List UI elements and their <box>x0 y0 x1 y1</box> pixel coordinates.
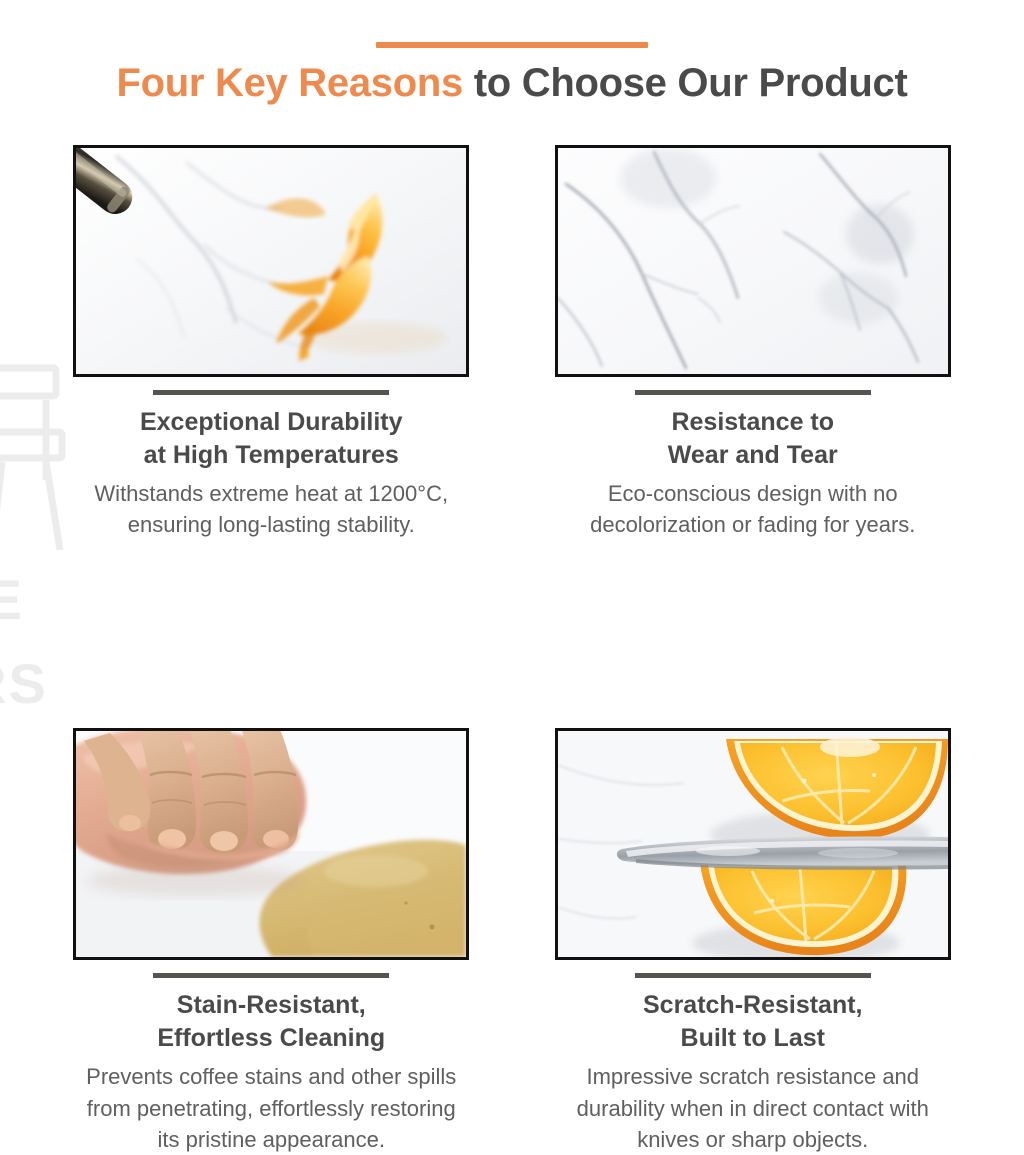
reason-image-2-frame <box>555 145 951 377</box>
card-divider-1 <box>153 390 389 395</box>
reason-body-4: Impressive scratch resistance and durabi… <box>555 1061 952 1155</box>
reason-image-2 <box>558 148 948 374</box>
reason-title-1: Exceptional Durability at High Temperatu… <box>73 406 470 472</box>
reason-card-4: Scratch-Resistant, Built to Last Impress… <box>555 728 952 1155</box>
reason-image-3 <box>76 731 466 957</box>
header: Four Key Reasons to Choose Our Product <box>0 0 1024 104</box>
reason-body-3: Prevents coffee stains and other spills … <box>73 1061 470 1155</box>
reason-title-3: Stain-Resistant, Effortless Cleaning <box>73 989 470 1055</box>
card-divider-3 <box>153 973 389 978</box>
reason-title-4: Scratch-Resistant, Built to Last <box>555 989 952 1055</box>
card-divider-2 <box>635 390 871 395</box>
reason-card-3: Stain-Resistant, Effortless Cleaning Pre… <box>73 728 470 1155</box>
reason-card-1: Exceptional Durability at High Temperatu… <box>73 145 470 540</box>
infographic-page: Four Key Reasons to Choose Our Product <box>0 0 1024 1024</box>
reason-title-2: Resistance to Wear and Tear <box>555 406 952 472</box>
reason-caption-4: Scratch-Resistant, Built to Last Impress… <box>555 989 952 1155</box>
reason-caption-1: Exceptional Durability at High Temperatu… <box>73 406 470 540</box>
reason-image-1-frame <box>73 145 469 377</box>
reason-image-4-frame <box>555 728 951 960</box>
page-title-rest: to Choose Our Product <box>463 61 908 105</box>
reason-image-3-frame <box>73 728 469 960</box>
reason-body-1: Withstands extreme heat at 1200°C, ensur… <box>73 478 470 540</box>
page-title-accent: Four Key Reasons <box>117 61 463 105</box>
card-divider-4 <box>635 973 871 978</box>
reason-card-2: Resistance to Wear and Tear Eco-consciou… <box>555 145 952 540</box>
page-title: Four Key Reasons to Choose Our Product <box>0 62 1024 104</box>
accent-bar <box>376 42 648 48</box>
reasons-grid: Exceptional Durability at High Temperatu… <box>0 145 1024 1155</box>
reason-image-1 <box>76 148 466 374</box>
reason-caption-3: Stain-Resistant, Effortless Cleaning Pre… <box>73 989 470 1155</box>
reason-body-2: Eco-conscious design with no decolorizat… <box>555 478 952 540</box>
reason-caption-2: Resistance to Wear and Tear Eco-consciou… <box>555 406 952 540</box>
reason-image-4 <box>558 731 948 957</box>
